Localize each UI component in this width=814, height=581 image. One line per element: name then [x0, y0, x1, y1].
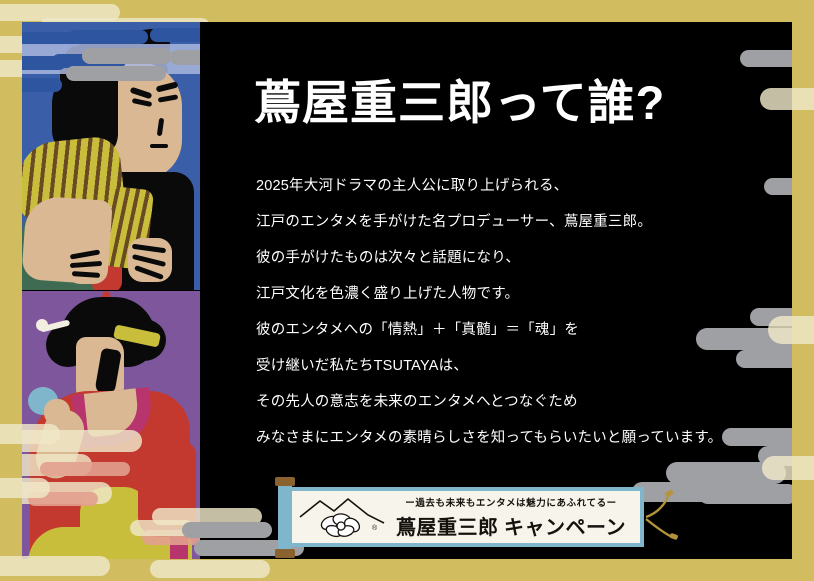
actor-mouth [150, 144, 168, 148]
content-panel: 蔦屋重三郎って誰? 2025年大河ドラマの主人公に取り上げられる、 江戸のエンタ… [22, 22, 792, 559]
woman-hand [44, 399, 70, 425]
cloud-decor [22, 78, 62, 92]
woman-hairpin-ball [36, 319, 48, 331]
banner-paper: ® ー過去も未来もエンタメは魅力にあふれてるー 蔦屋重三郎 キャンペーン [288, 487, 644, 547]
cloud-decor [68, 30, 148, 44]
cloud-decor [722, 428, 792, 446]
actor-sideburn [84, 74, 118, 146]
cloud-decor [170, 50, 200, 65]
body-line: 彼の手がけたものは次々と話題になり、 [256, 240, 766, 276]
body-line: 彼のエンタメへの「情熱」＋「真髄」＝「魂」を [256, 312, 766, 348]
artwork-sharaku-actor [22, 22, 200, 290]
cloud-decor [66, 66, 166, 81]
page-title: 蔦屋重三郎って誰? [254, 64, 665, 133]
cloud-decor [0, 556, 110, 576]
actor-hand-right [128, 238, 172, 282]
cloud-decor [740, 50, 792, 67]
body-line: 江戸文化を色濃く盛り上げた人物です。 [256, 276, 766, 312]
body-copy: 2025年大河ドラマの主人公に取り上げられる、 江戸のエンタメを手がけた名プロデ… [256, 168, 766, 456]
scroll-roller-cap [275, 549, 295, 558]
body-line: 受け継いだ私たちTSUTAYAは、 [256, 348, 766, 384]
banner-text: ー過去も未来もエンタメは魅力にあふれてるー 蔦屋重三郎 キャンペーン [390, 495, 640, 540]
cloud-decor [764, 178, 792, 195]
cloud-decor [736, 350, 792, 368]
body-line: みなさまにエンタメの素晴らしさを知ってもらいたいと願っています。 [256, 420, 766, 456]
cloud-decor [82, 48, 172, 64]
body-line: 2025年大河ドラマの主人公に取り上げられる、 [256, 168, 766, 204]
cloud-decor [0, 478, 50, 498]
registered-mark: ® [372, 525, 377, 532]
cloud-decor [0, 424, 60, 444]
body-line: 江戸のエンタメを手がけた名プロデューサー、蔦屋重三郎。 [256, 204, 766, 240]
cloud-decor [760, 88, 814, 110]
banner-subtitle: ー過去も未来もエンタメは魅力にあふれてるー [390, 495, 632, 509]
cloud-decor [40, 462, 130, 476]
campaign-banner[interactable]: ® ー過去も未来もエンタメは魅力にあふれてるー 蔦屋重三郎 キャンペーン [258, 477, 678, 559]
actor-hand-left [66, 244, 106, 284]
scroll-roller-cap [275, 477, 295, 486]
cloud-decor [768, 316, 814, 344]
banner-cord-decoration [644, 487, 714, 557]
artwork-column [22, 22, 200, 559]
cloud-decor [150, 560, 270, 578]
body-line: その先人の意志を未来のエンタメへとつなぐため [256, 384, 766, 420]
cloud-decor [150, 28, 200, 42]
poster-root: 蔦屋重三郎って誰? 2025年大河ドラマの主人公に取り上げられる、 江戸のエンタ… [0, 0, 814, 581]
cloud-decor [762, 456, 814, 480]
banner-title: 蔦屋重三郎 キャンペーン [390, 511, 632, 540]
mountain-flower-crest-icon: ® [298, 493, 390, 541]
